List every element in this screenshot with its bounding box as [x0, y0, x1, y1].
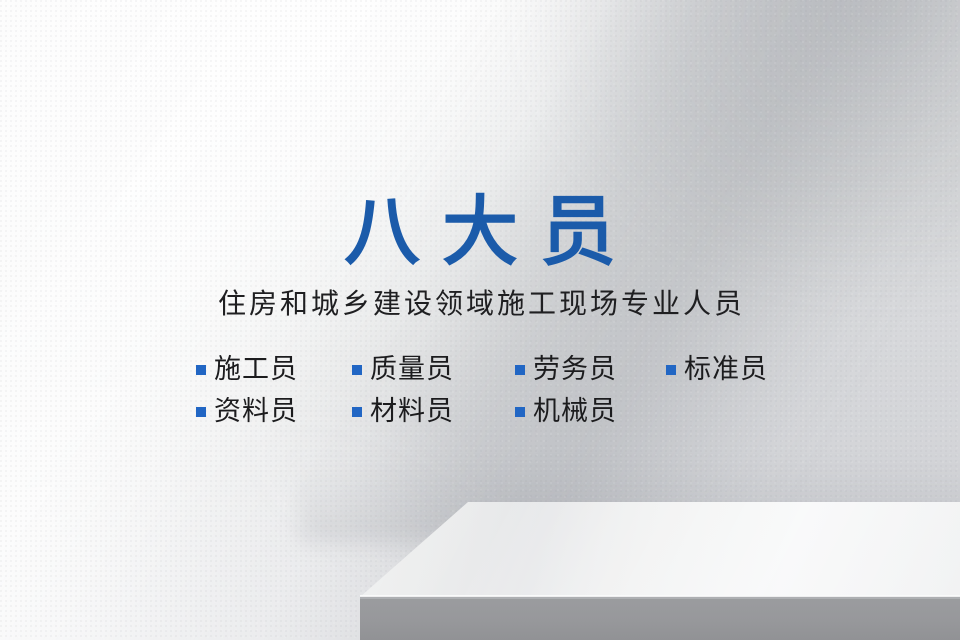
role-row: 施工员 质量员 劳务员 标准员 — [196, 348, 796, 390]
role-list: 施工员 质量员 劳务员 标准员 资料员 — [196, 348, 796, 432]
square-bullet-icon — [196, 407, 206, 417]
role-label: 质量员 — [370, 353, 454, 385]
role-item-biaozhunyuan[interactable]: 标准员 — [666, 348, 796, 390]
role-item-zhiliangyuan[interactable]: 质量员 — [352, 348, 515, 390]
role-label: 标准员 — [684, 353, 768, 385]
square-bullet-icon — [666, 365, 676, 375]
role-item-shigongyuan[interactable]: 施工员 — [196, 348, 352, 390]
role-label: 施工员 — [214, 353, 298, 385]
role-item-ziliaoyuan[interactable]: 资料员 — [196, 390, 352, 432]
role-item-cailiaoyuan[interactable]: 材料员 — [352, 390, 515, 432]
poster-stage: 八大员 住房和城乡建设领域施工现场专业人员 施工员 质量员 劳务员 — [0, 0, 960, 640]
role-item-laowuyuan[interactable]: 劳务员 — [515, 348, 666, 390]
square-bullet-icon — [352, 407, 362, 417]
square-bullet-icon — [352, 365, 362, 375]
role-label: 劳务员 — [533, 353, 617, 385]
square-bullet-icon — [515, 407, 525, 417]
role-label: 材料员 — [370, 395, 454, 427]
role-row: 资料员 材料员 机械员 — [196, 390, 796, 432]
poster-content: 八大员 住房和城乡建设领域施工现场专业人员 施工员 质量员 劳务员 — [0, 0, 960, 640]
page-title: 八大员 — [0, 190, 960, 276]
role-item-jixieyuan[interactable]: 机械员 — [515, 390, 666, 432]
role-label: 机械员 — [533, 395, 617, 427]
square-bullet-icon — [515, 365, 525, 375]
square-bullet-icon — [196, 365, 206, 375]
page-subtitle: 住房和城乡建设领域施工现场专业人员 — [0, 286, 960, 322]
role-label: 资料员 — [214, 395, 298, 427]
